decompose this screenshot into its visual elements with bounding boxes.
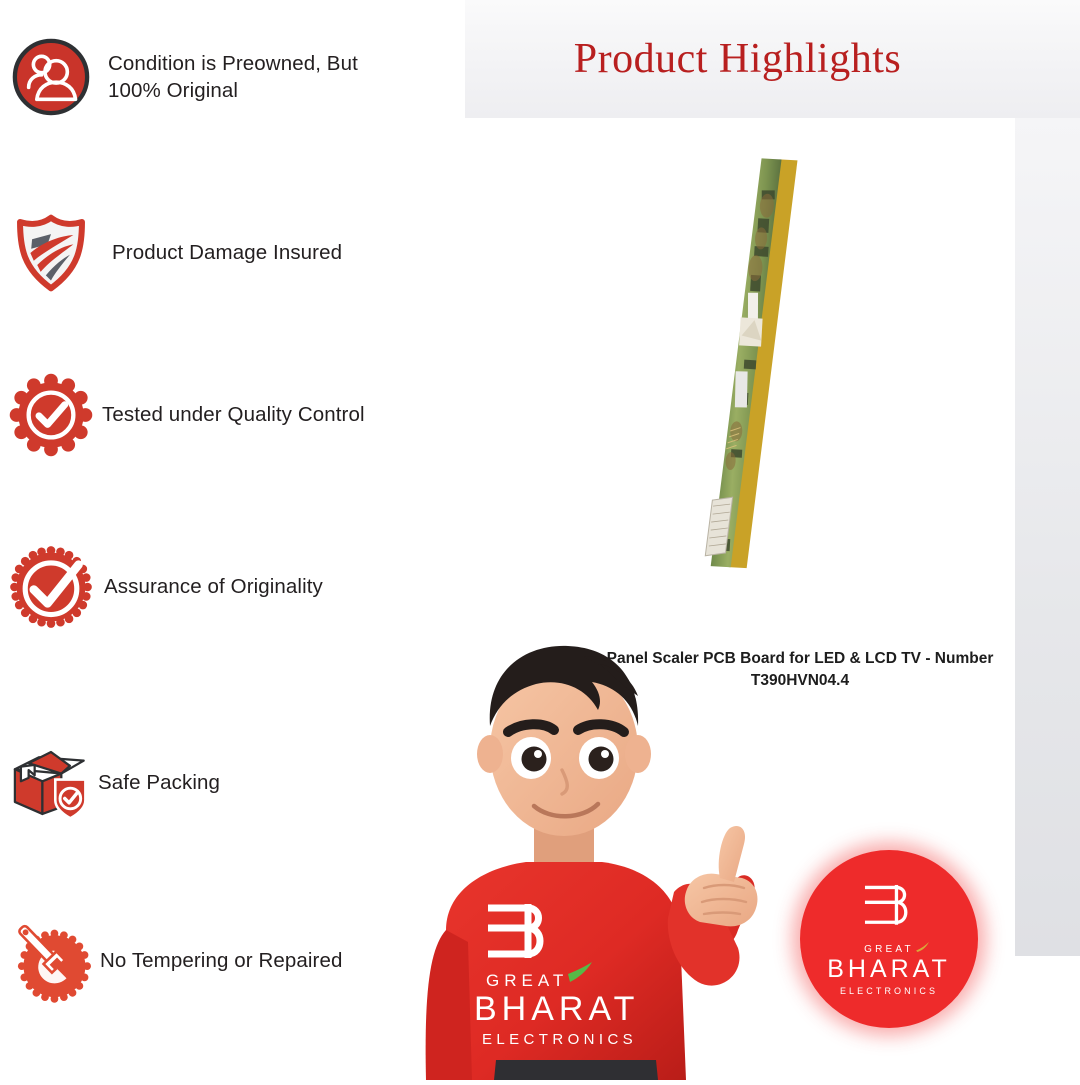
- feature-label: Safe Packing: [98, 769, 220, 796]
- logo-line-great: GREAT: [864, 944, 914, 955]
- feature-label: Product Damage Insured: [112, 239, 342, 266]
- feature-item-no-tempering: No Tempering or Repaired: [8, 918, 342, 1004]
- feature-item-condition: Condition is Preowned, But 100% Original: [8, 34, 408, 120]
- feature-item-damage-insured: Product Damage Insured: [8, 210, 342, 296]
- feature-label: No Tempering or Repaired: [100, 947, 342, 974]
- product-image: [640, 150, 860, 580]
- feature-item-safe-packing: Safe Packing: [8, 740, 220, 826]
- brand-logo-badge: GREAT BHARAT ELECTRONICS: [800, 850, 978, 1028]
- product-highlights-graphic: Product Highlights Condition is Preowned…: [0, 0, 1080, 1080]
- svg-text:BHARAT: BHARAT: [474, 990, 639, 1028]
- b-monogram-icon: [860, 882, 918, 936]
- quality-badge-check-icon: [8, 372, 94, 458]
- shield-insured-icon: [8, 210, 94, 296]
- right-gray-strip: [1015, 118, 1080, 956]
- svg-text:GREAT: GREAT: [486, 971, 568, 990]
- feature-item-originality: Assurance of Originality: [8, 544, 323, 630]
- feature-label: Assurance of Originality: [104, 573, 323, 600]
- people-circle-icon: [8, 34, 94, 120]
- feature-item-quality-control: Tested under Quality Control: [8, 372, 365, 458]
- feature-label: Tested under Quality Control: [102, 401, 365, 428]
- box-shield-icon: [8, 740, 94, 826]
- feature-label: Condition is Preowned, But 100% Original: [108, 50, 408, 104]
- logo-line-bharat: BHARAT: [827, 956, 951, 982]
- wrench-badge-icon: [8, 918, 94, 1004]
- logo-line-electronics: ELECTRONICS: [840, 986, 938, 996]
- page-title: Product Highlights: [465, 28, 1010, 90]
- svg-text:ELECTRONICS: ELECTRONICS: [482, 1031, 637, 1048]
- swoosh-icon: [915, 942, 930, 952]
- originality-badge-check-icon: [8, 544, 94, 630]
- mascot-character: GREAT BHARAT ELECTRONICS: [386, 630, 816, 1080]
